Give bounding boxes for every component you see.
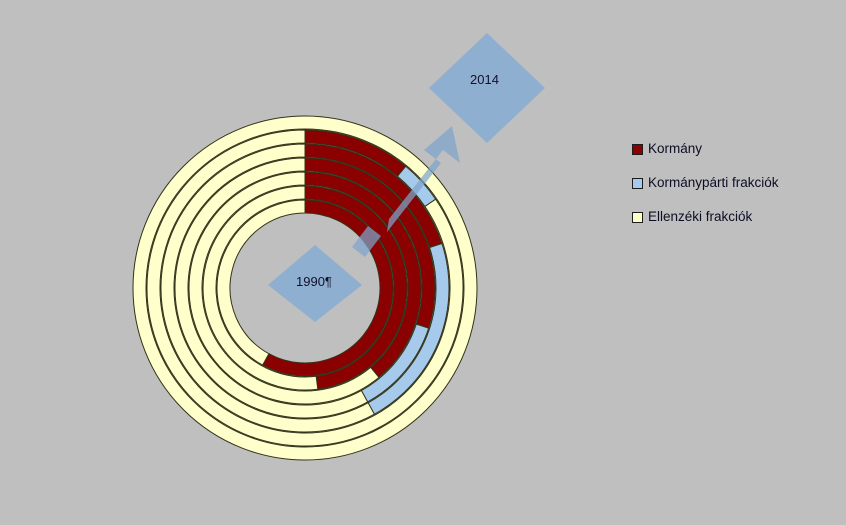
legend-swatch-kormanyparti: [632, 178, 643, 189]
outer-diamond-label: 2014: [470, 72, 499, 87]
legend-label-kormany: Kormány: [648, 142, 702, 156]
doughnut-chart: 1990¶ 2014 Kormány Kormánypárti frakciók…: [0, 0, 846, 520]
legend-label-ellenzeki: Ellenzéki frakciók: [648, 210, 752, 224]
legend-item-kormany[interactable]: Kormány: [632, 132, 832, 166]
legend-swatch-ellenzeki: [632, 212, 643, 223]
legend-item-ellenzeki[interactable]: Ellenzéki frakciók: [632, 200, 832, 234]
legend-label-kormanyparti: Kormánypárti frakciók: [648, 176, 779, 190]
legend-swatch-kormany: [632, 144, 643, 155]
chart-legend: Kormány Kormánypárti frakciók Ellenzéki …: [632, 132, 832, 234]
inner-diamond-label: 1990¶: [296, 274, 332, 289]
year-diamond-2014: [429, 33, 545, 143]
ring-series-svg: [0, 0, 846, 520]
legend-item-kormanyparti[interactable]: Kormánypárti frakciók: [632, 166, 832, 200]
